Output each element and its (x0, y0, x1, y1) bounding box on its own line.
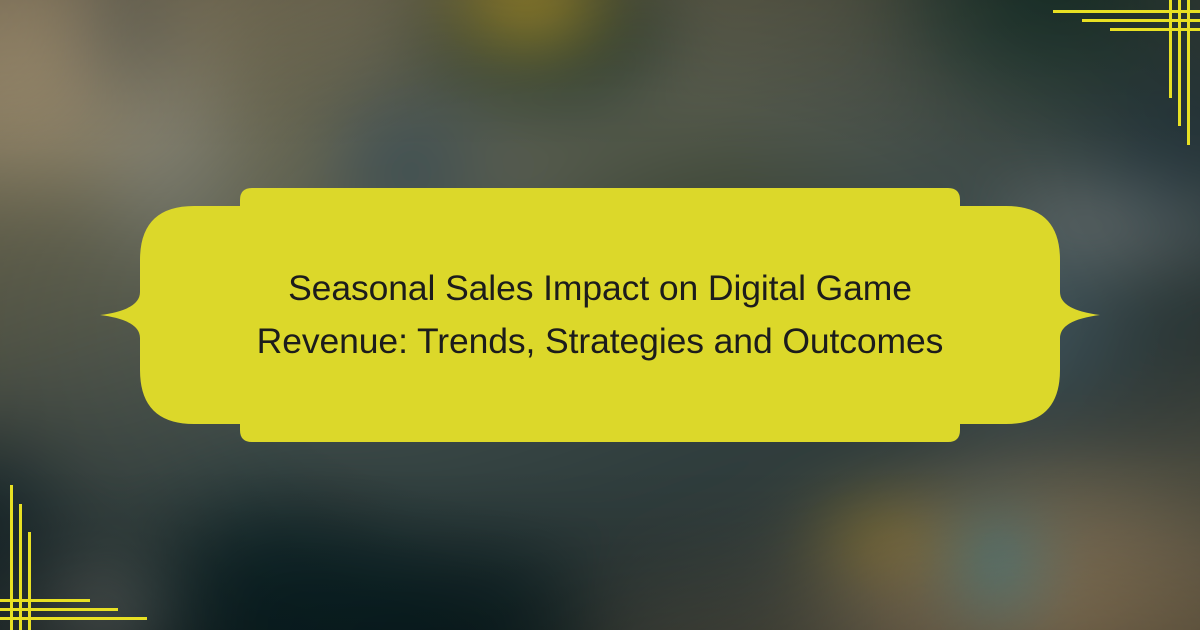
share-card-canvas: Seasonal Sales Impact on Digital Game Re… (0, 0, 1200, 630)
deco-line-h3 (0, 599, 90, 602)
deco-line-v3 (28, 532, 31, 630)
deco-line-v2 (19, 504, 22, 630)
deco-line-h1 (0, 617, 147, 620)
deco-line-h2 (1082, 19, 1200, 22)
title-line-1: Seasonal Sales Impact on Digital Game (288, 262, 912, 315)
deco-line-v1 (1187, 0, 1190, 145)
deco-line-v3 (1169, 0, 1172, 98)
deco-line-h2 (0, 608, 118, 611)
deco-line-v2 (1178, 0, 1181, 126)
corner-ornament-top-right (1040, 0, 1200, 160)
title-line-2: Revenue: Trends, Strategies and Outcomes (257, 315, 944, 368)
badge-title-text: Seasonal Sales Impact on Digital Game Re… (200, 188, 1000, 442)
deco-line-v1 (10, 485, 13, 630)
corner-ornament-bottom-left (0, 470, 160, 630)
